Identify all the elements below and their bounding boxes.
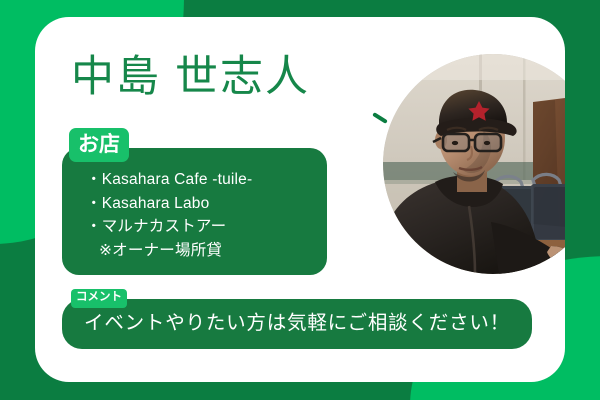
list-item: ・Kasahara Labo [76,192,313,216]
white-card: 中島 世志人 お店 ・Kasahara Cafe -tuile- ・Kasaha… [35,17,565,382]
shop-list: ・Kasahara Cafe -tuile- ・Kasahara Labo ・マ… [76,168,313,262]
comment-box: イベントやりたい方は気軽にご相談ください！ [62,299,532,349]
shop-section: お店 ・Kasahara Cafe -tuile- ・Kasahara Labo… [62,128,327,275]
comment-badge: コメント [71,289,127,308]
shop-list-box: ・Kasahara Cafe -tuile- ・Kasahara Labo ・マ… [62,148,327,275]
person-name: 中島 世志人 [71,54,310,101]
list-item-note: ※オーナー場所貸 [76,239,313,263]
comment-section: コメント イベントやりたい方は気軽にご相談ください！ [62,287,532,349]
portrait-container [383,54,565,274]
list-item: ・Kasahara Cafe -tuile- [76,168,313,192]
portrait-photo [383,54,565,274]
profile-card-canvas: 中島 世志人 お店 ・Kasahara Cafe -tuile- ・Kasaha… [0,0,600,400]
comment-text: イベントやりたい方は気軽にご相談ください！ [76,310,518,336]
shop-badge: お店 [69,128,129,162]
list-item: ・マルナカストアー [76,215,313,239]
